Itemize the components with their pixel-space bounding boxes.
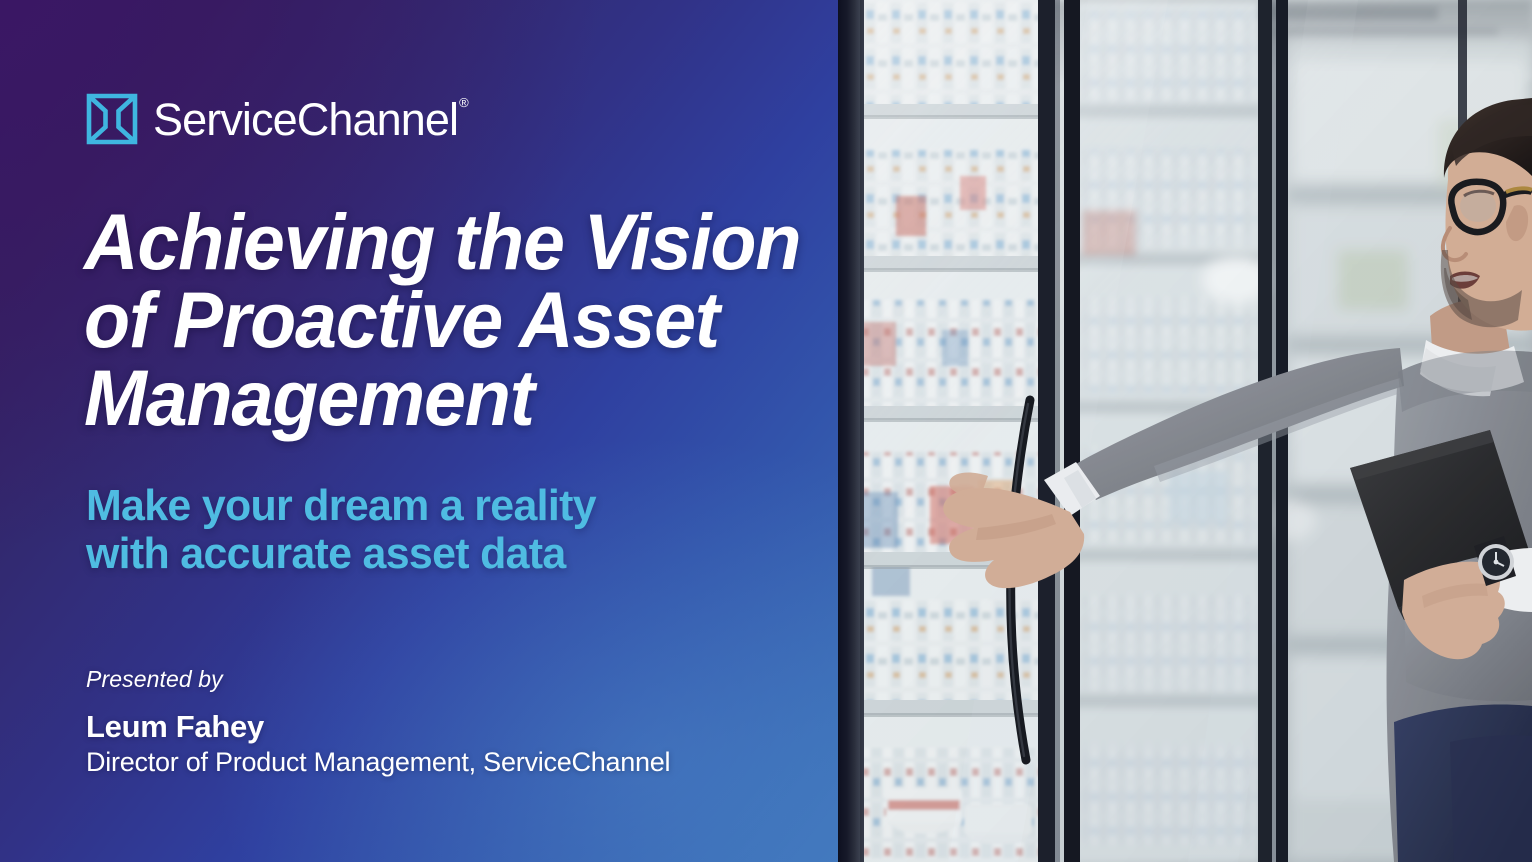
presenter-job-title: Director of Product Management, ServiceC… — [86, 747, 670, 779]
hero-photo — [838, 0, 1532, 862]
brand-wordmark-text: ServiceChannel — [153, 94, 458, 145]
page-subtitle-line-2: with accurate asset data — [86, 530, 749, 578]
presenter-name: Leum Fahey — [86, 710, 670, 745]
left-content-panel: ServiceChannel® Achieving the Vision of … — [0, 0, 838, 862]
page-title-line-3: Management — [84, 359, 762, 437]
page-subtitle: Make your dream a reality with accurate … — [86, 482, 749, 577]
panel-photo-seam — [838, 0, 860, 862]
servicechannel-bowtie-logo-icon — [86, 93, 138, 145]
presented-by-label: Presented by — [86, 666, 670, 693]
page-title-line-1: Achieving the Vision — [84, 203, 762, 281]
registered-trademark-icon: ® — [459, 95, 469, 110]
page-title-line-2: of Proactive Asset — [84, 281, 762, 359]
page-title: Achieving the Vision of Proactive Asset … — [84, 203, 762, 436]
brand-wordmark: ServiceChannel® — [153, 97, 468, 142]
brand-logo: ServiceChannel® — [86, 93, 468, 145]
page-subtitle-line-1: Make your dream a reality — [86, 482, 749, 530]
title-slide: ServiceChannel® Achieving the Vision of … — [0, 0, 1532, 862]
presenter-block: Presented by Leum Fahey Director of Prod… — [86, 666, 670, 779]
